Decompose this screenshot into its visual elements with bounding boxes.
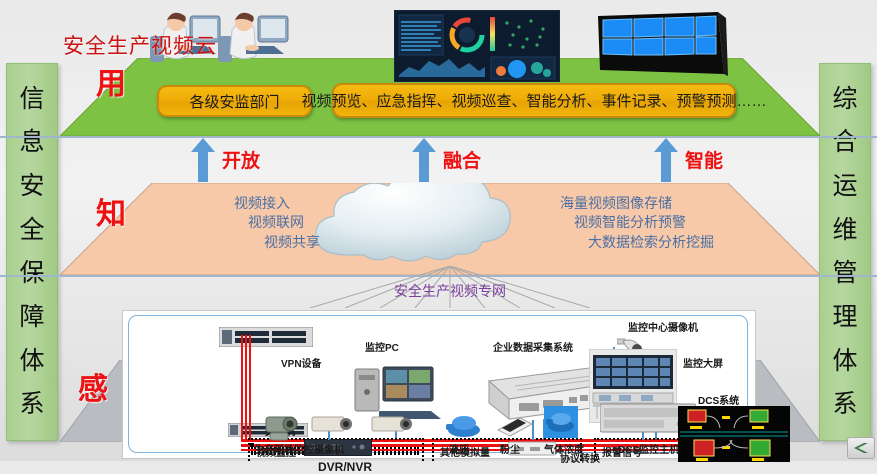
layer-letter-know: 知 — [96, 200, 126, 230]
pillar-char: 系 — [832, 392, 857, 417]
cloud-right-capabilities: 海量视频图像存储 视频智能分析预警 大数据检索分析挖掘 — [560, 194, 780, 252]
pillar-char: 全 — [19, 218, 44, 243]
pillar-char: 信 — [19, 87, 44, 112]
arrow-smart-icon — [654, 138, 678, 182]
cloud-right-item: 海量视频图像存储 — [560, 194, 780, 213]
gas-sensor-icon — [544, 406, 578, 438]
departments-box[interactable]: 各级安监部门 — [157, 85, 312, 117]
ptz-camera-icon — [260, 405, 300, 441]
layer-letter-sense: 感 — [78, 375, 108, 405]
pillar-char: 维 — [832, 218, 857, 243]
bullet-camera-icon-1 — [310, 412, 354, 436]
pillar-char: 体 — [832, 349, 857, 374]
pillar-char: 息 — [19, 130, 44, 155]
pillar-char: 运 — [832, 174, 857, 199]
layer-letter-use: 用 — [96, 70, 126, 100]
pillar-char: 保 — [19, 261, 44, 286]
arrow-label-smart: 智能 — [685, 152, 723, 171]
use-layer-baseline — [0, 136, 877, 138]
cloud-left-item: 视频共享 — [140, 233, 320, 252]
pillar-char: 综 — [832, 87, 857, 112]
pillar-char: 理 — [832, 305, 857, 330]
corner-tab-button[interactable] — [847, 437, 875, 459]
video-wall-photo — [590, 10, 730, 80]
arrow-fuse-icon — [412, 138, 436, 182]
video-cloud-shape — [288, 183, 568, 273]
hydraulic-label: 液压 — [449, 441, 469, 456]
hydraulic-sensor-icon — [444, 410, 482, 438]
arrow-label-fuse: 融合 — [443, 152, 481, 171]
sensor-row: 生产现场监控摄像机 液压 粉尘 气体浓度 DCS监控主机 DCS系统 — [122, 310, 754, 461]
left-pillar-information-security: 信 息 安 全 保 障 体 系 — [6, 63, 58, 441]
dust-label: 粉尘 — [500, 441, 520, 456]
pillar-char: 体 — [19, 349, 44, 374]
field-cameras-label: 生产现场监控摄像机 — [254, 441, 344, 456]
bullet-camera-icon-2 — [370, 412, 414, 436]
chevron-left-icon — [854, 443, 868, 453]
pillar-char: 系 — [19, 392, 44, 417]
dcs-system-screen — [678, 406, 790, 462]
dvr-nvr-label: DVR/NVR — [318, 460, 372, 474]
pillar-char: 安 — [19, 174, 44, 199]
cloud-right-item: 视频智能分析预警 — [574, 213, 780, 232]
dust-sensor-icon — [494, 410, 534, 438]
arrow-open-icon — [191, 138, 215, 182]
cloud-left-capabilities: 视频接入 视频联网 视频共享 — [140, 194, 290, 252]
dcs-system-label: DCS系统 — [698, 392, 739, 407]
functions-box[interactable]: 视频预览、应急指挥、视频巡查、智能分析、事件记录、预警预测…… — [332, 83, 736, 118]
bi-dashboard-screenshot — [394, 10, 560, 82]
cloud-left-item: 视频接入 — [140, 194, 290, 213]
pillar-char: 障 — [19, 305, 44, 330]
cloud-right-item: 大数据检索分析挖掘 — [588, 233, 780, 252]
arrow-label-open: 开放 — [222, 152, 260, 171]
dcs-host-label: DCS监控主机 — [618, 441, 679, 456]
pillar-char: 管 — [832, 261, 857, 286]
private-network-label: 安全生产视频专网 — [300, 281, 600, 301]
cloud-left-item: 视频联网 — [140, 213, 304, 232]
pillar-char: 合 — [832, 130, 857, 155]
cloud-title: 安全生产视频云 — [0, 30, 280, 60]
right-pillar-operations-management: 综 合 运 维 管 理 体 系 — [819, 63, 871, 441]
gas-label: 气体浓度 — [544, 441, 584, 456]
